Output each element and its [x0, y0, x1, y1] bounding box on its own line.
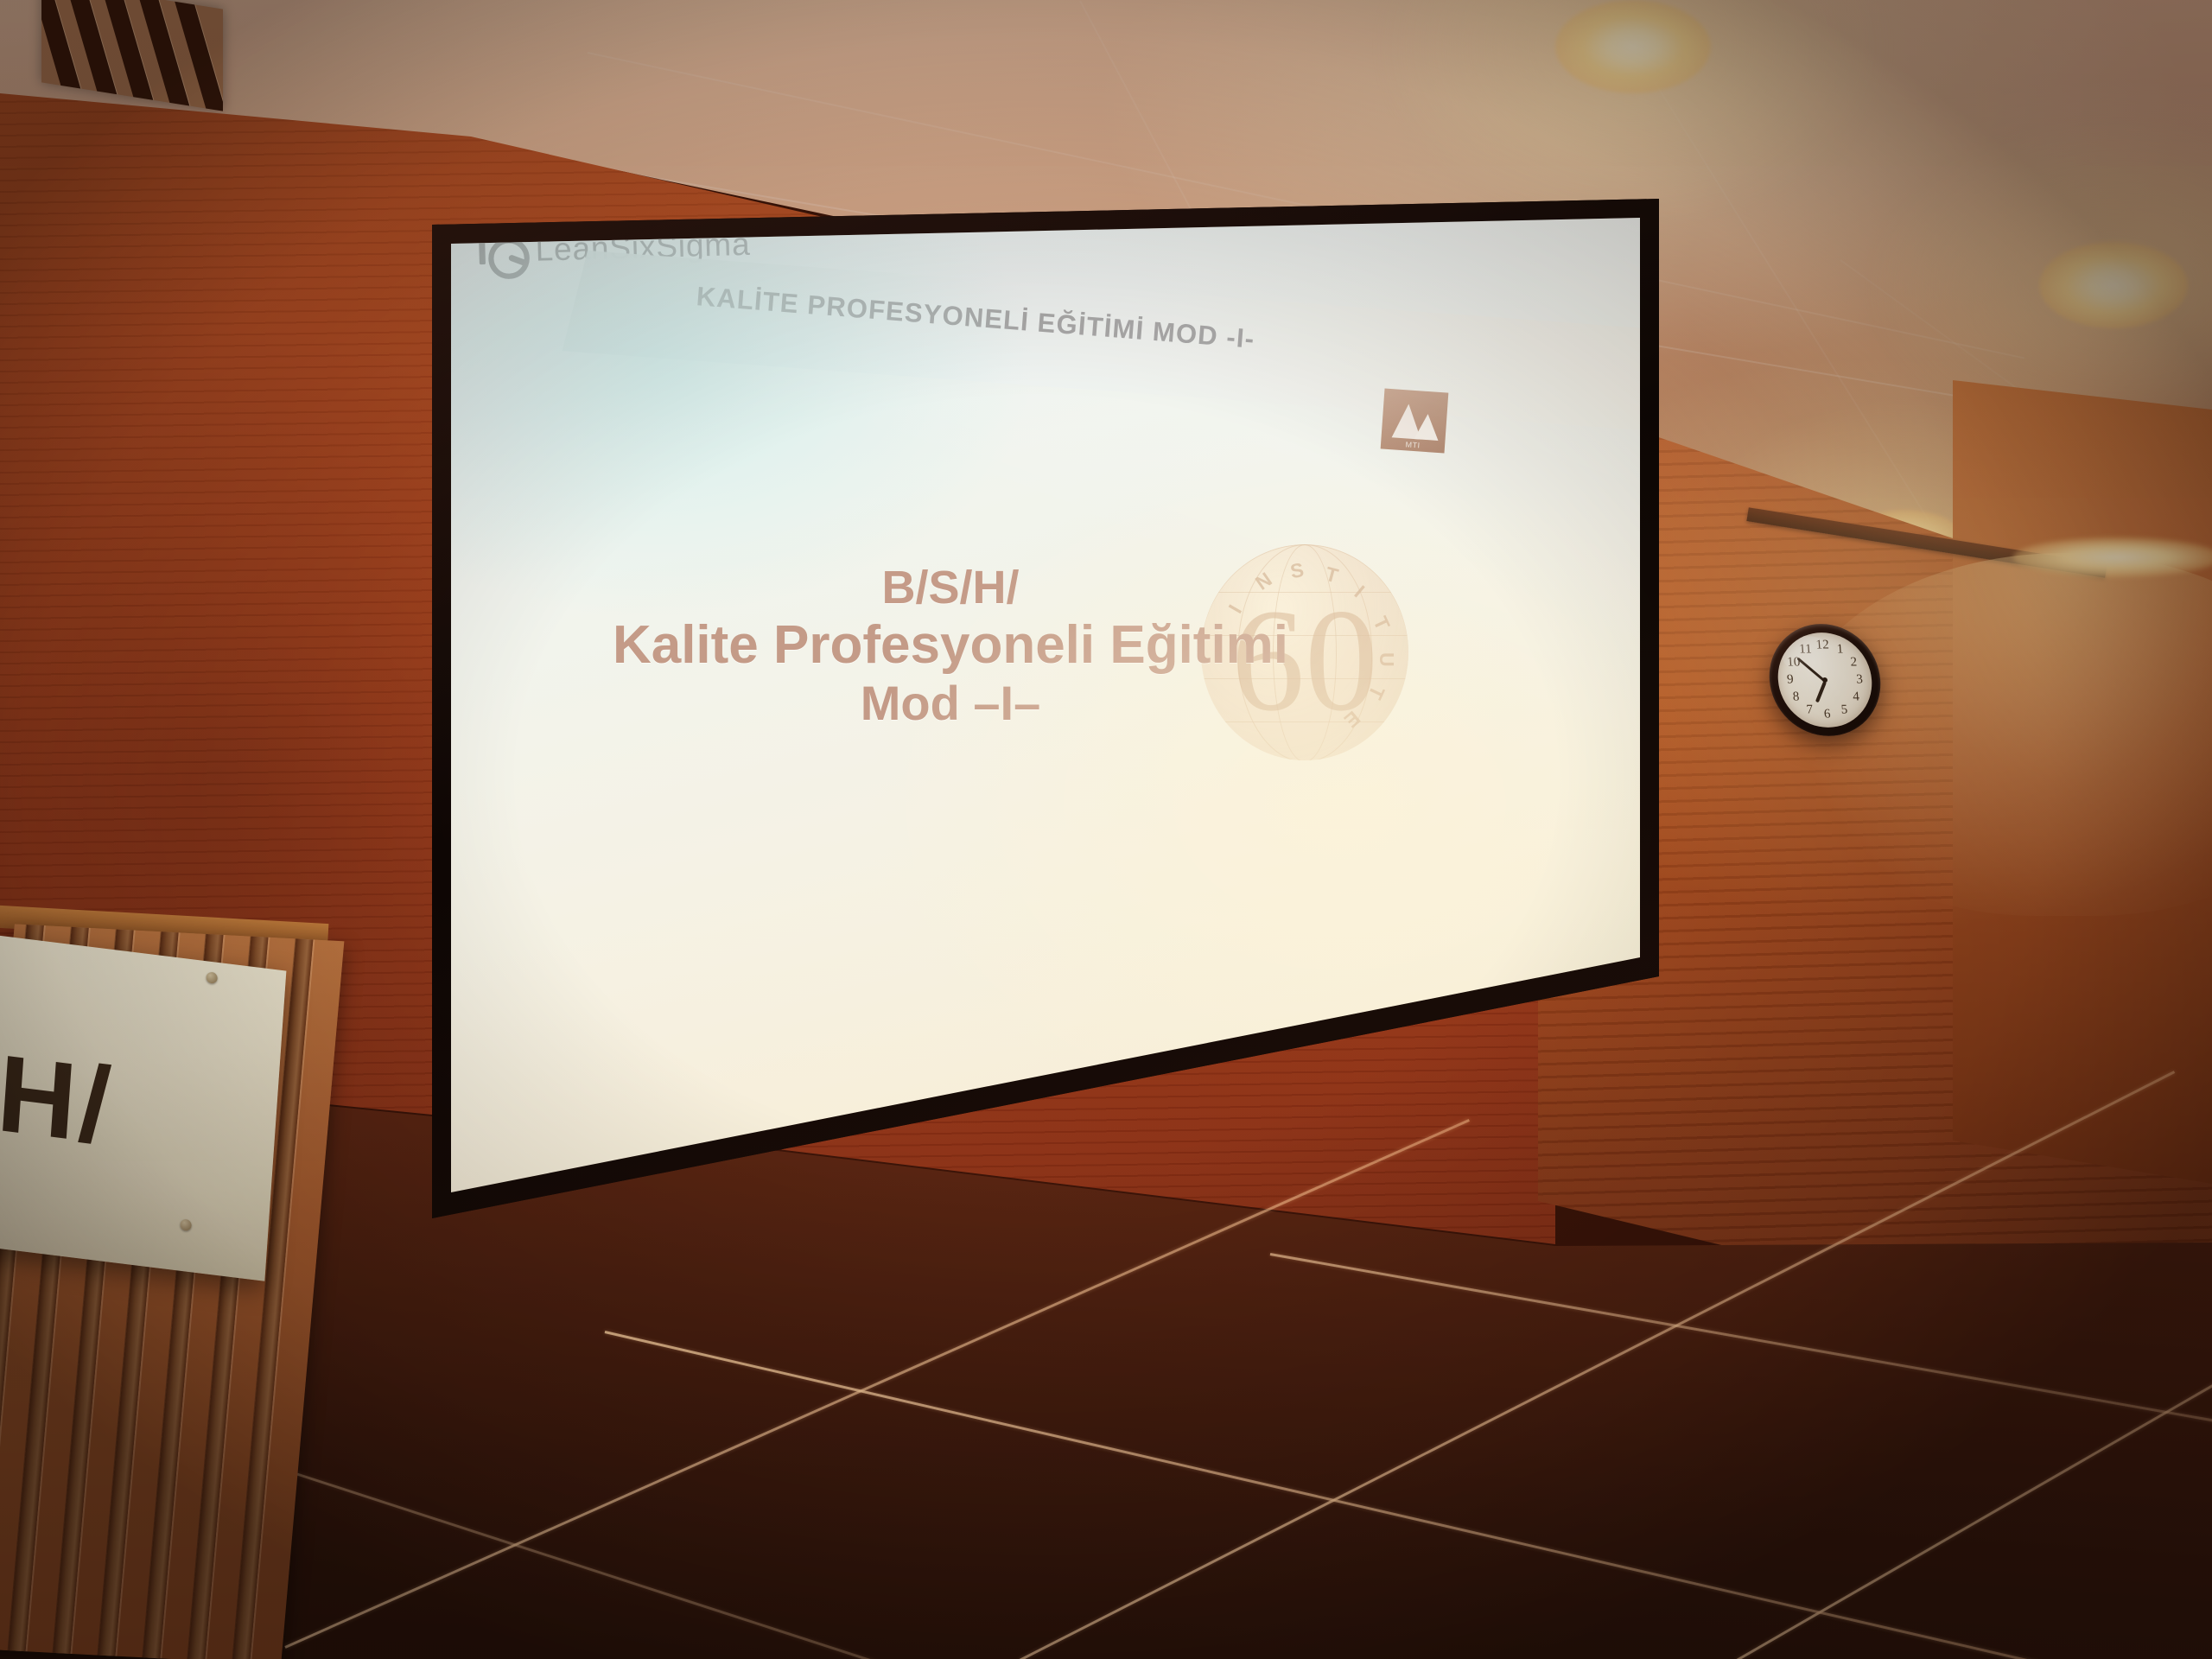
room-photo-scene: LeanSixSigma KALİTE PROFESYONELİ EĞİTİMİ… [0, 0, 2212, 1659]
mountain-logo-icon: MTI [1381, 389, 1449, 454]
board-screw [180, 1218, 192, 1231]
clock-numeral: 3 [1856, 673, 1864, 688]
slide-title-line1: B/S/H/ [562, 562, 1339, 615]
bsh-brand-board: /H/ [0, 931, 286, 1281]
clock-numeral: 12 [1815, 639, 1829, 653]
board-screw [206, 971, 218, 984]
wall-wash-light [2013, 537, 2212, 577]
ceiling-downlight [1555, 0, 1711, 93]
clock-numeral: 9 [1787, 673, 1795, 688]
bsh-board-text: /H/ [0, 1026, 118, 1169]
clock-numeral: 7 [1806, 702, 1814, 717]
clock-numeral: 5 [1840, 702, 1848, 717]
clock-numeral: 6 [1823, 707, 1831, 721]
slide-title-line3: Mod –I– [562, 676, 1339, 731]
far-wall-corner [1953, 380, 2212, 1244]
clock-center-pin [1822, 677, 1827, 683]
logo-peak-right [1414, 413, 1440, 441]
clock-hour-hand [1815, 681, 1827, 702]
clock-numeral: 4 [1853, 690, 1860, 704]
clock-numeral: 1 [1836, 643, 1844, 658]
slide-title-block: B/S/H/ Kalite Profesyoneli Eğitimi Mod –… [562, 562, 1339, 731]
clock-numeral: 2 [1850, 656, 1858, 671]
clock-numeral: 8 [1792, 690, 1800, 704]
clock-face: 121234567891011 [1775, 632, 1875, 728]
slide-title-line2: Kalite Profesyoneli Eğitimi [562, 615, 1339, 677]
watermark-arc-letter: U [1375, 652, 1398, 667]
clock-numeral: 11 [1799, 643, 1813, 658]
ceiling-downlight [2039, 242, 2188, 328]
